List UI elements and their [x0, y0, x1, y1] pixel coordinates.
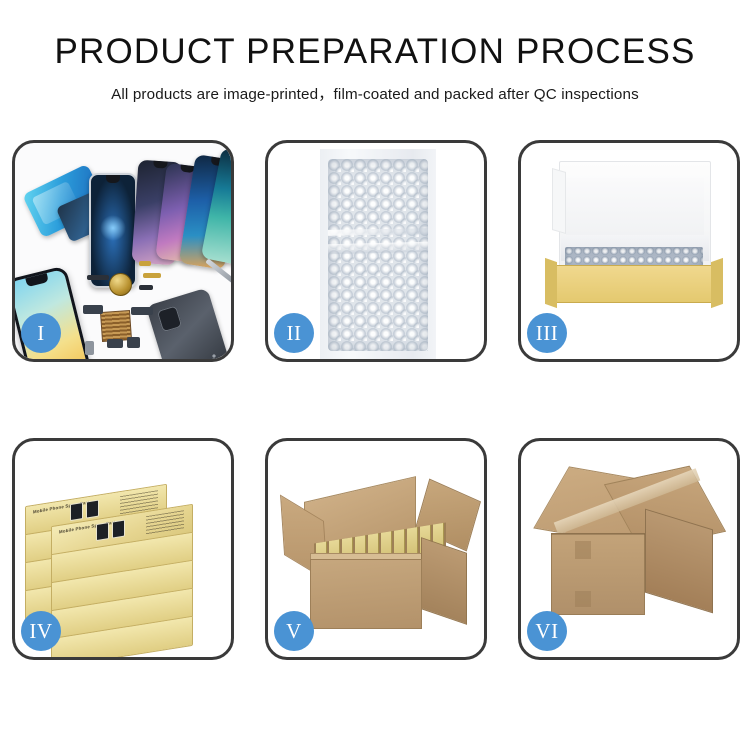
header: PRODUCT PREPARATION PROCESS All products…: [0, 0, 750, 104]
step-panel-4: Mobile Phone Spare Parts: [12, 438, 234, 660]
phone-back-housing-icon: [146, 288, 231, 359]
ribbon-cable-icon: [131, 307, 153, 315]
step-badge-5: V: [274, 611, 314, 651]
carton-tab-icon: [575, 541, 591, 559]
page-title: PRODUCT PREPARATION PROCESS: [0, 34, 750, 71]
carton-front-panel-icon: [551, 533, 645, 615]
step-panel-5: V: [265, 438, 487, 660]
sim-tray-icon: [85, 341, 94, 355]
carton-tab-icon: [575, 591, 591, 607]
step-badge-3: III: [527, 313, 567, 353]
product-preparation-infographic: PRODUCT PREPARATION PROCESS All products…: [0, 0, 750, 750]
kraft-box-tray-icon: [555, 265, 713, 303]
flex-cable-icon: [87, 275, 109, 280]
phone-screen-front-icon: [89, 173, 137, 288]
step-badge-4: IV: [21, 611, 61, 651]
process-steps-grid: I II III: [12, 140, 740, 660]
step-badge-1: I: [21, 313, 61, 353]
phone-thumbnail-icon: [86, 500, 99, 519]
bubble-wrap-icon: [328, 159, 428, 351]
step-panel-3: III: [518, 140, 740, 362]
carton-front-panel-icon: [310, 559, 422, 629]
step-badge-6: VI: [527, 611, 567, 651]
page-subtitle: All products are image-printed，film-coat…: [0, 82, 750, 104]
step-panel-6: VI: [518, 438, 740, 660]
gold-contact-icon: [139, 261, 151, 266]
button-flex-icon: [139, 285, 153, 290]
screws-icon: [211, 353, 231, 359]
step-badge-2: II: [274, 313, 314, 353]
step-panel-1: I: [12, 140, 234, 362]
step-panel-2: II: [265, 140, 487, 362]
carton-seam: [551, 533, 645, 535]
phone-thumbnail-icon: [70, 502, 83, 521]
earpiece-icon: [127, 337, 140, 348]
speaker-module-icon: [109, 273, 132, 296]
vibrator-icon: [107, 339, 123, 348]
gold-connector-icon: [143, 273, 161, 278]
camera-flex-icon: [83, 305, 103, 314]
phone-thumbnail-icon: [112, 520, 125, 539]
carton-side-panel-icon: [421, 537, 467, 625]
phone-thumbnail-icon: [96, 522, 109, 541]
